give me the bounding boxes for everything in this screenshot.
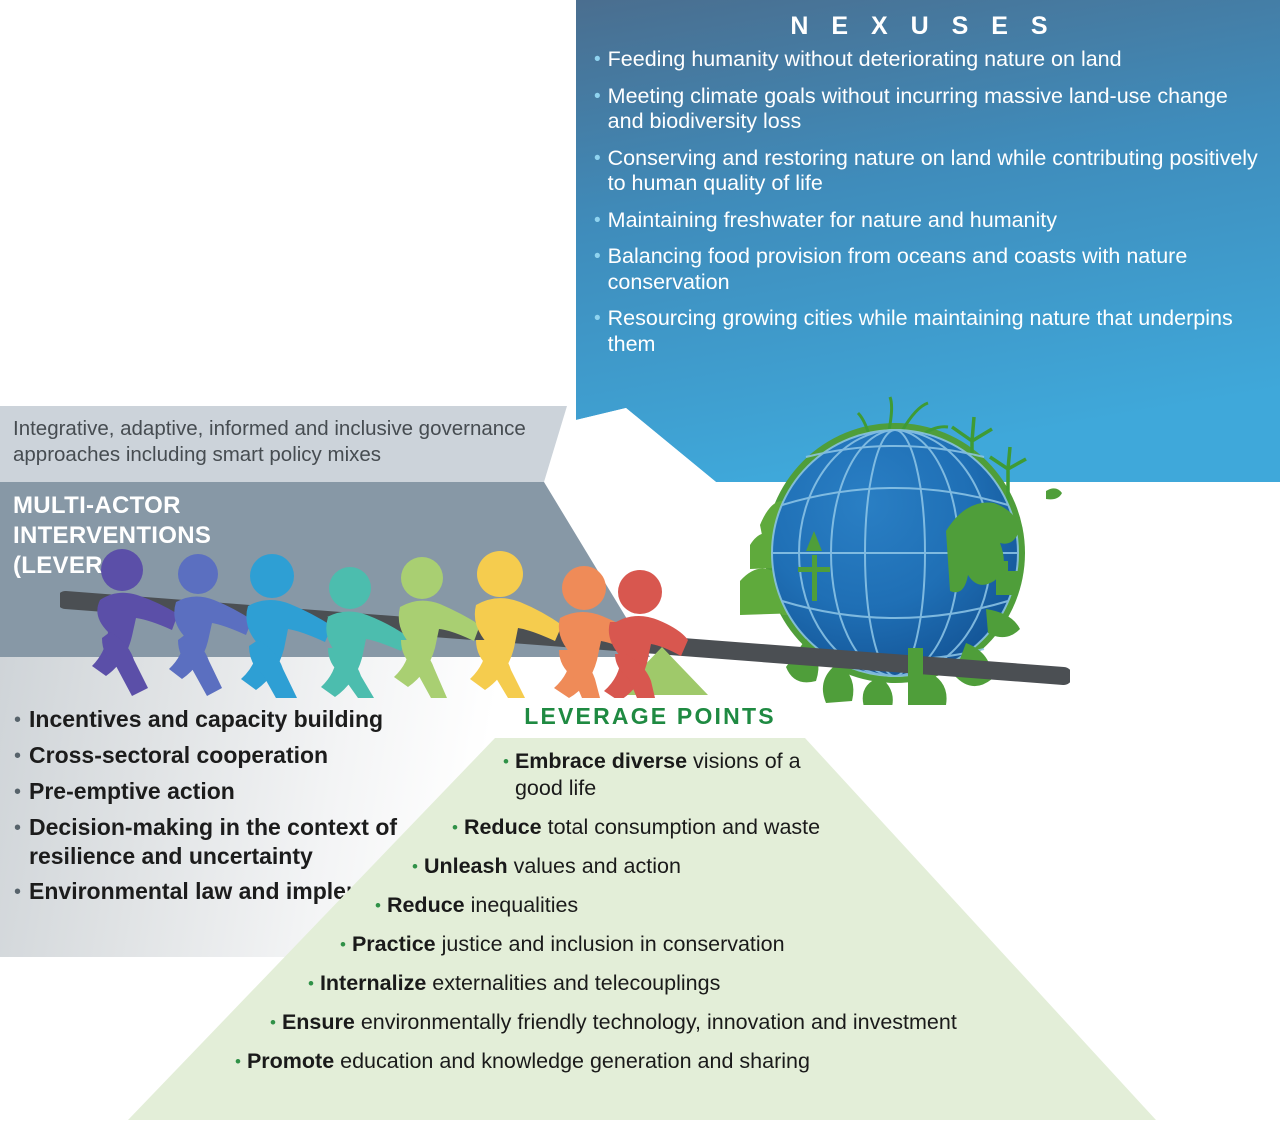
nexus-item: • Feeding humanity without deteriorating…	[566, 47, 1280, 73]
person-3	[241, 554, 332, 698]
leverage-point-lead: Unleash	[424, 854, 508, 878]
leverage-points-title: LEVERAGE POINTS	[470, 703, 830, 730]
nexus-item: • Conserving and restoring nature on lan…	[566, 146, 1280, 197]
leverage-point-lead: Reduce	[464, 815, 542, 839]
nexus-item-text: Resourcing growing cities while maintain…	[608, 306, 1266, 357]
person-2	[169, 554, 252, 696]
leverage-point-text: Promote education and knowledge generati…	[247, 1048, 810, 1075]
leverage-point-lead: Promote	[247, 1049, 334, 1073]
bullet-icon: •	[594, 84, 601, 135]
nexus-item-text: Conserving and restoring nature on land …	[608, 146, 1266, 197]
leverage-point-rest: inequalities	[465, 893, 579, 917]
globe-bird-icon	[1046, 488, 1062, 499]
leverage-point-rest: externalities and telecouplings	[426, 971, 720, 995]
leverage-point-rest: justice and inclusion in conservation	[436, 932, 785, 956]
bullet-icon: •	[308, 970, 314, 997]
bullet-icon: •	[594, 244, 601, 295]
leverage-points-list: • Embrace diverse visions of a good life…	[0, 748, 1280, 1087]
leverage-point-item: • Embrace diverse visions of a good life	[0, 748, 833, 802]
bullet-icon: •	[412, 853, 418, 880]
leverage-point-lead: Embrace diverse	[515, 749, 687, 773]
bullet-icon: •	[375, 892, 381, 919]
leverage-point-item: • Unleash values and action	[0, 853, 1280, 880]
levers-title-line-2: INTERVENTIONS	[13, 521, 211, 551]
nexuses-content: N E X U S E S • Feeding humanity without…	[566, 0, 1280, 368]
nexuses-title: N E X U S E S	[566, 0, 1280, 47]
bullet-icon: •	[594, 146, 601, 197]
leverage-point-rest: values and action	[508, 854, 681, 878]
leverage-point-item: • Reduce inequalities	[0, 892, 1280, 919]
leverage-point-lead: Practice	[352, 932, 436, 956]
bullet-icon: •	[594, 47, 601, 73]
nexus-item: • Maintaining freshwater for nature and …	[566, 208, 1280, 234]
governance-panel: Integrative, adaptive, informed and incl…	[0, 406, 567, 482]
nexus-item-text: Maintaining freshwater for nature and hu…	[608, 208, 1266, 234]
leverage-point-item: • Internalize externalities and telecoup…	[0, 970, 1280, 997]
bullet-icon: •	[594, 208, 601, 234]
bullet-icon: •	[503, 748, 509, 802]
person-4	[321, 567, 407, 698]
governance-text: Integrative, adaptive, informed and incl…	[13, 416, 543, 468]
bullet-icon: •	[594, 306, 601, 357]
person-1	[92, 549, 178, 696]
person-5	[394, 557, 480, 698]
bullet-icon: •	[340, 931, 346, 958]
nexus-item: • Balancing food provision from oceans a…	[566, 244, 1280, 295]
nexus-item-text: Balancing food provision from oceans and…	[608, 244, 1266, 295]
levers-title-line-1: MULTI-ACTOR	[13, 491, 211, 521]
bullet-icon: •	[270, 1009, 276, 1036]
nexus-item: • Resourcing growing cities while mainta…	[566, 306, 1280, 357]
leverage-point-item: • Practice justice and inclusion in cons…	[0, 931, 1280, 958]
person-8	[604, 570, 688, 698]
leverage-point-lead: Internalize	[320, 971, 426, 995]
leverage-point-rest: education and knowledge generation and s…	[334, 1049, 810, 1073]
leverage-point-text: Reduce inequalities	[387, 892, 578, 919]
bullet-icon: •	[452, 814, 458, 841]
nexus-item-text: Meeting climate goals without incurring …	[608, 84, 1266, 135]
leverage-point-text: Ensure environmentally friendly technolo…	[282, 1009, 957, 1036]
leverage-point-rest: environmentally friendly technology, inn…	[355, 1010, 957, 1034]
leverage-point-lead: Reduce	[387, 893, 465, 917]
leverage-point-text: Embrace diverse visions of a good life	[515, 748, 833, 802]
people-pulling-lever	[70, 548, 690, 698]
nexus-item: • Meeting climate goals without incurrin…	[566, 84, 1280, 135]
leverage-point-text: Internalize externalities and telecoupli…	[320, 970, 720, 997]
bullet-icon: •	[14, 705, 21, 735]
bullet-icon: •	[235, 1048, 241, 1075]
leverage-point-item: • Ensure environmentally friendly techno…	[0, 1009, 1280, 1036]
leverage-point-item: • Reduce total consumption and waste	[0, 814, 1280, 841]
infographic-canvas: N E X U S E S • Feeding humanity without…	[0, 0, 1280, 1143]
leverage-point-text: Unleash values and action	[424, 853, 681, 880]
leverage-point-rest: total consumption and waste	[542, 815, 820, 839]
lever-item: • Incentives and capacity building	[0, 705, 470, 735]
leverage-point-text: Practice justice and inclusion in conser…	[352, 931, 785, 958]
leverage-point-item: • Promote education and knowledge genera…	[0, 1048, 1280, 1075]
leverage-point-lead: Ensure	[282, 1010, 355, 1034]
leverage-point-text: Reduce total consumption and waste	[464, 814, 820, 841]
lever-item-text: Incentives and capacity building	[29, 705, 470, 735]
nexus-item-text: Feeding humanity without deteriorating n…	[608, 47, 1266, 73]
person-6	[470, 551, 562, 698]
globe-support-post	[895, 648, 935, 700]
